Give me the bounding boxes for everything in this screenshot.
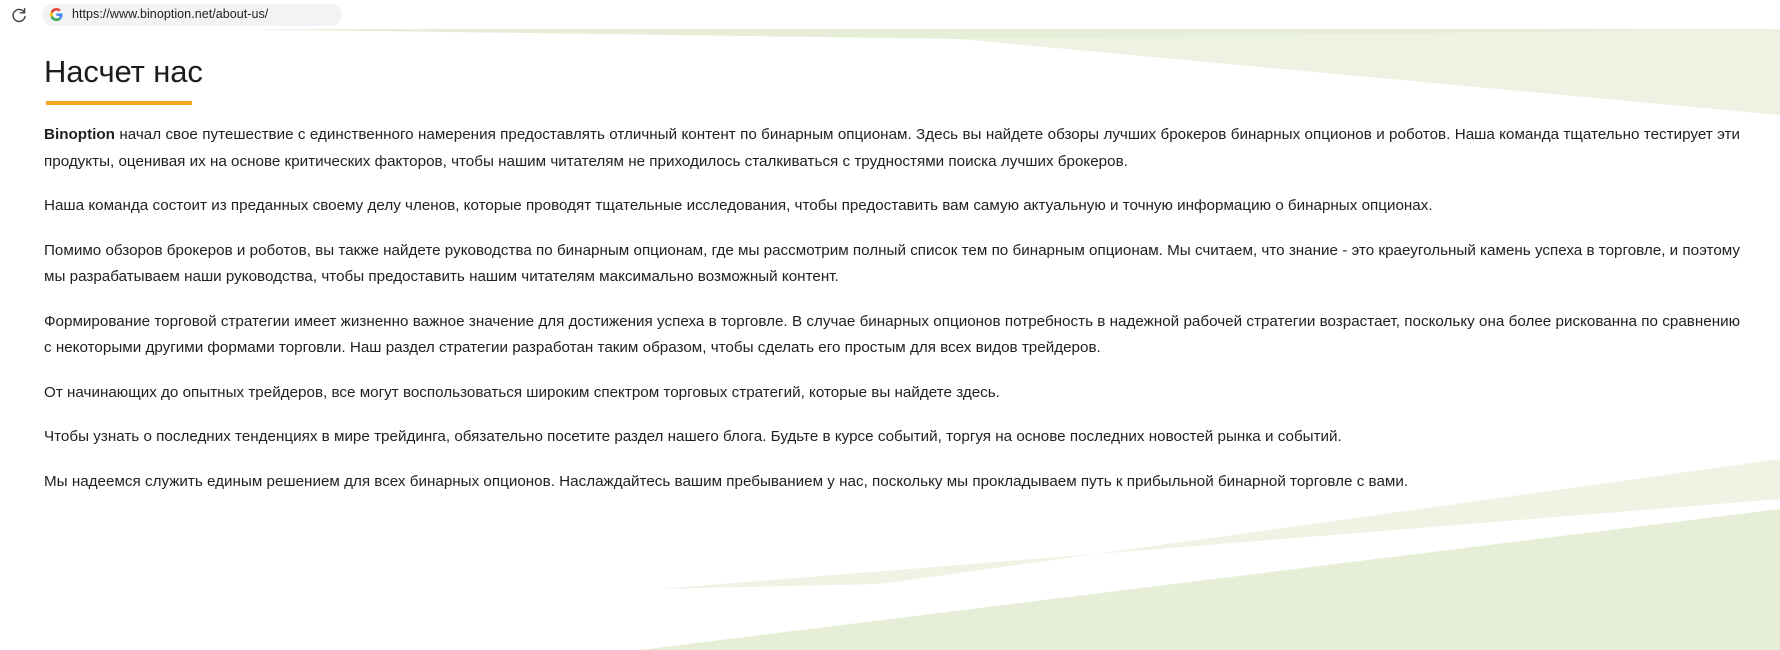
google-g-icon <box>50 8 63 21</box>
browser-toolbar: https://www.binoption.net/about-us/ <box>0 0 1780 29</box>
title-underline <box>46 101 192 105</box>
paragraph-1-text: начал свое путешествие с единственного н… <box>44 126 1740 170</box>
page-title: Насчет нас <box>44 29 1740 90</box>
paragraph-3: Помимо обзоров брокеров и роботов, вы та… <box>44 238 1740 291</box>
address-bar[interactable]: https://www.binoption.net/about-us/ <box>42 4 342 26</box>
article-body: Binoption начал свое путешествие с единс… <box>44 122 1740 495</box>
paragraph-5: От начинающих до опытных трейдеров, все … <box>44 380 1740 407</box>
paragraph-1: Binoption начал свое путешествие с единс… <box>44 122 1740 175</box>
paragraph-6: Чтобы узнать о последних тенденциях в ми… <box>44 424 1740 451</box>
brand-name: Binoption <box>44 126 115 143</box>
paragraph-2: Наша команда состоит из преданных своему… <box>44 193 1740 220</box>
web-page: Насчет нас Binoption начал свое путешест… <box>0 29 1780 650</box>
paragraph-4: Формирование торговой стратегии имеет жи… <box>44 309 1740 362</box>
reload-icon[interactable] <box>10 6 28 24</box>
paragraph-7: Мы надеемся служить единым решением для … <box>44 469 1740 496</box>
article-content: Насчет нас Binoption начал свое путешест… <box>0 29 1780 495</box>
url-text: https://www.binoption.net/about-us/ <box>72 8 268 21</box>
